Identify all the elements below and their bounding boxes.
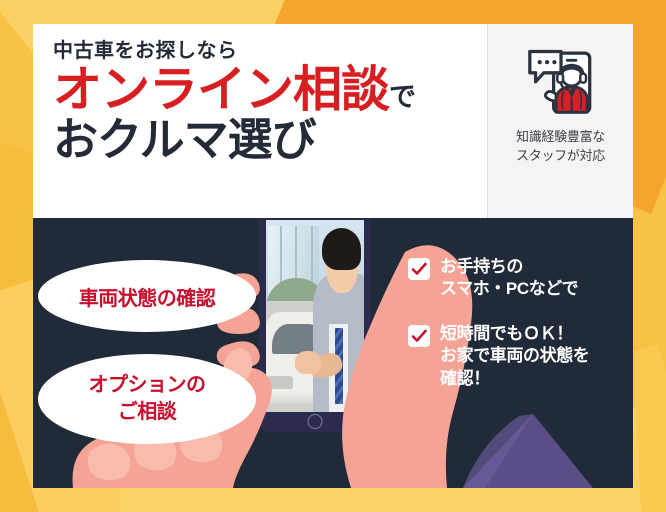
operator-caption: 知識経験豊富な スタッフが対応 bbox=[516, 128, 605, 166]
headline-main-suffix: で bbox=[389, 82, 416, 112]
checklist-1-line1: お手持ちの bbox=[440, 256, 578, 278]
headline-kicker: 中古車をお探しなら bbox=[53, 40, 487, 62]
checklist-2-line3: 確認！ bbox=[440, 368, 589, 390]
checkbox-checked-icon bbox=[408, 258, 430, 280]
bubble-options-consult: オプションの ご相談 bbox=[38, 354, 256, 444]
check-mark-icon bbox=[410, 327, 428, 345]
promo-banner: 中古車をお探しなら オンライン相談で おクルマ選び bbox=[0, 0, 666, 512]
operator-panel: 知識経験豊富な スタッフが対応 bbox=[487, 24, 633, 218]
bubble-2-line2: ご相談 bbox=[89, 399, 206, 426]
bubble-2-text: オプションの ご相談 bbox=[89, 372, 206, 426]
headline-main-text: オンライン相談 bbox=[53, 63, 389, 117]
header-card: 中古車をお探しなら オンライン相談で おクルマ選び bbox=[33, 24, 633, 218]
checkbox-checked-icon bbox=[408, 325, 430, 347]
checklist-item-text: 短時間でもＯＫ！ お家で車両の状態を 確認！ bbox=[440, 323, 589, 390]
operator-caption-line1: 知識経験豊富な bbox=[516, 128, 605, 147]
checklist-item: 短時間でもＯＫ！ お家で車両の状態を 確認！ bbox=[408, 323, 623, 390]
checklist-1-line2: スマホ・PCなどで bbox=[440, 278, 578, 300]
checklist-item: お手持ちの スマホ・PCなどで bbox=[408, 256, 623, 301]
headline-zone: 中古車をお探しなら オンライン相談で おクルマ選び bbox=[33, 24, 487, 218]
dark-content-panel: 車両状態の確認 オプションの ご相談 お手持ちの スマホ・PCなどで bbox=[33, 218, 633, 488]
checklist: お手持ちの スマホ・PCなどで 短時間でもＯＫ！ お家で車両の状態を 確認！ bbox=[408, 256, 623, 412]
operator-caption-line2: スタッフが対応 bbox=[516, 147, 605, 166]
headset-operator-icon bbox=[520, 40, 602, 122]
headline-main: オンライン相談で bbox=[53, 64, 487, 117]
checklist-2-line2: お家で車両の状態を bbox=[440, 345, 589, 367]
bubble-1-text: 車両状態の確認 bbox=[79, 282, 216, 311]
checklist-2-line1: 短時間でもＯＫ！ bbox=[440, 323, 589, 345]
check-mark-icon bbox=[410, 260, 428, 278]
headline-sub: おクルマ選び bbox=[53, 115, 487, 165]
checklist-item-text: お手持ちの スマホ・PCなどで bbox=[440, 256, 578, 301]
bubble-2-line1: オプションの bbox=[89, 372, 206, 399]
bubble-vehicle-condition: 車両状態の確認 bbox=[38, 260, 256, 332]
